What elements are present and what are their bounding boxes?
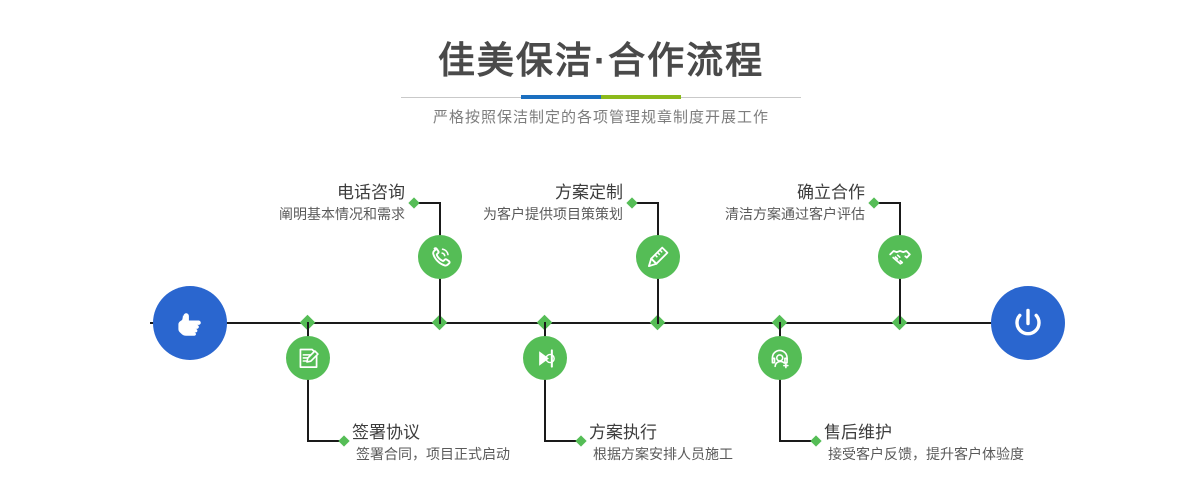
step-title: 电话咨询 bbox=[150, 182, 405, 204]
step-desc: 为客户提供项目策策划 bbox=[380, 204, 623, 224]
step-label-after-sales: 售后维护 接受客户反馈，提升客户体验度 bbox=[824, 422, 1104, 464]
divider-segment-green bbox=[601, 95, 681, 99]
step-node-sign-agreement[interactable] bbox=[286, 336, 330, 380]
label-marker-below-1 bbox=[338, 435, 349, 446]
flow-start-node[interactable] bbox=[153, 286, 227, 360]
divider-segment-blue bbox=[521, 95, 601, 99]
pencil-ruler-icon bbox=[645, 244, 671, 270]
step-desc: 接受客户反馈，提升客户体验度 bbox=[824, 444, 1104, 464]
step-node-after-sales[interactable] bbox=[758, 336, 802, 380]
step-label-sign-agreement: 签署协议 签署合同，项目正式启动 bbox=[352, 422, 612, 464]
step-label-establish-cooperation: 确立合作 清洁方案通过客户评估 bbox=[620, 182, 865, 224]
hand-pointing-icon bbox=[170, 303, 210, 343]
play-execute-icon bbox=[533, 346, 558, 371]
step-label-phone-consult: 电话咨询 阐明基本情况和需求 bbox=[150, 182, 405, 224]
step-desc: 阐明基本情况和需求 bbox=[150, 204, 405, 224]
page-subtitle: 严格按照保洁制定的各项管理规章制度开展工作 bbox=[0, 106, 1202, 127]
page-header: 佳美保洁·合作流程 严格按照保洁制定的各项管理规章制度开展工作 bbox=[0, 0, 1202, 140]
headset-support-icon bbox=[768, 346, 793, 371]
process-flow-diagram: 电话咨询 阐明基本情况和需求 方案定制 为客户提供项目策策划 bbox=[0, 140, 1202, 502]
step-title: 售后维护 bbox=[824, 422, 1104, 444]
connector-horizontal-above-3 bbox=[878, 202, 900, 204]
phone-call-icon bbox=[427, 244, 453, 270]
step-title: 方案定制 bbox=[380, 182, 623, 204]
label-marker-above-3 bbox=[868, 197, 879, 208]
step-node-phone-consult[interactable] bbox=[418, 235, 462, 279]
step-node-establish-cooperation[interactable] bbox=[878, 235, 922, 279]
step-desc: 签署合同，项目正式启动 bbox=[352, 444, 612, 464]
step-desc: 清洁方案通过客户评估 bbox=[620, 204, 865, 224]
step-node-plan-customize[interactable] bbox=[636, 235, 680, 279]
document-edit-icon bbox=[296, 346, 321, 371]
page-title: 佳美保洁·合作流程 bbox=[0, 38, 1202, 84]
timeline-axis bbox=[150, 322, 1052, 324]
power-icon bbox=[1007, 302, 1049, 344]
flow-end-node[interactable] bbox=[991, 286, 1065, 360]
handshake-icon bbox=[887, 244, 913, 270]
step-label-plan-customize: 方案定制 为客户提供项目策策划 bbox=[380, 182, 623, 224]
step-desc: 根据方案安排人员施工 bbox=[589, 444, 849, 464]
step-title: 确立合作 bbox=[620, 182, 865, 204]
divider-line-left bbox=[401, 97, 521, 98]
title-divider bbox=[401, 95, 801, 99]
step-node-plan-execute[interactable] bbox=[523, 336, 567, 380]
divider-line-right bbox=[681, 97, 801, 98]
step-label-plan-execute: 方案执行 根据方案安排人员施工 bbox=[589, 422, 849, 464]
